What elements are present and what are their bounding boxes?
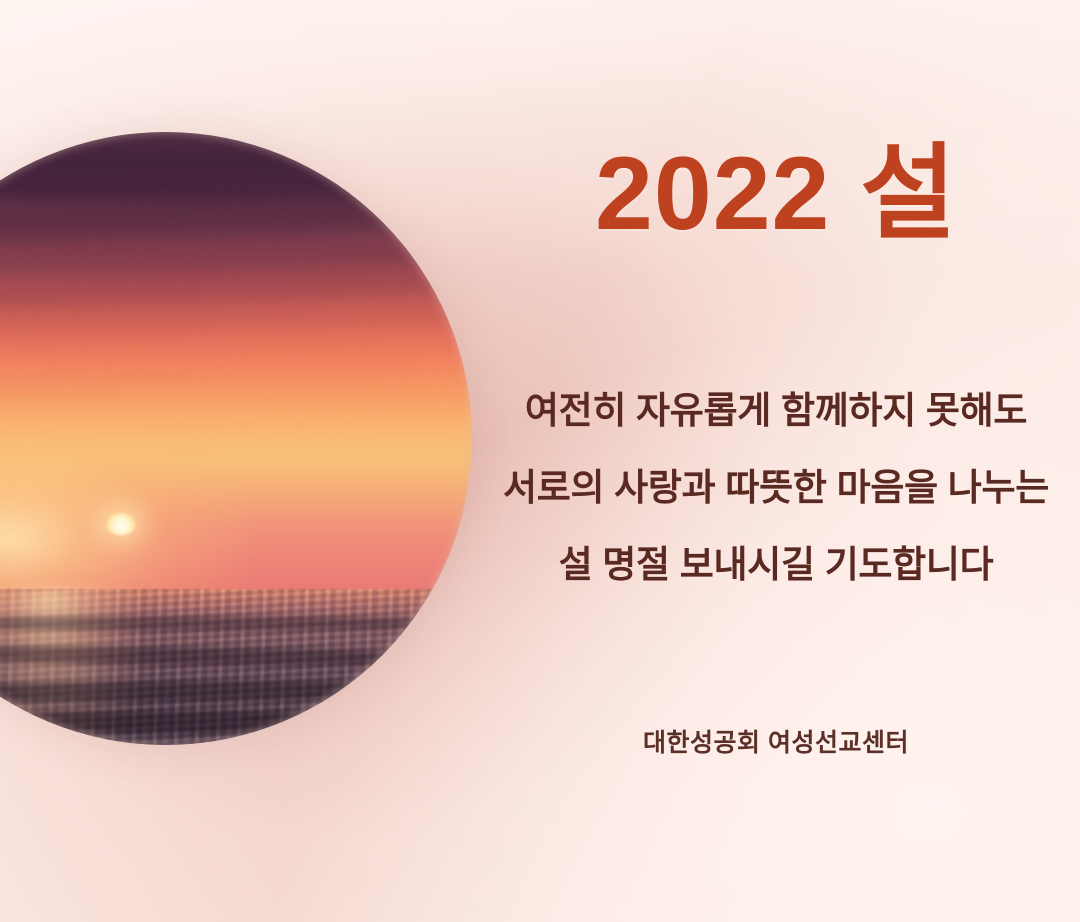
sunset-ocean-circle-photo [0,132,472,745]
greeting-message: 여전히 자유롭게 함께하지 못해도 서로의 사랑과 따뜻한 마음을 나누는 설 … [472,372,1080,603]
photo-wave-band [0,711,472,733]
message-line-3: 설 명절 보내시길 기도합니다 [472,526,1080,603]
sender-signature: 대한성공회 여성선교센터 [472,723,1080,759]
message-line-1: 여전히 자유롭게 함께하지 못해도 [472,372,1080,449]
message-line-2: 서로의 사랑과 따뜻한 마음을 나누는 [472,449,1080,526]
sun-icon [106,513,136,535]
photo-wave-band [0,616,472,631]
text-column: 2022 설 여전히 자유롭게 함께하지 못해도 서로의 사랑과 따뜻한 마음을… [472,0,1080,922]
greeting-card: 2022 설 여전히 자유롭게 함께하지 못해도 서로의 사랑과 따뜻한 마음을… [0,0,1080,922]
page-title: 2022 설 [472,139,1080,249]
